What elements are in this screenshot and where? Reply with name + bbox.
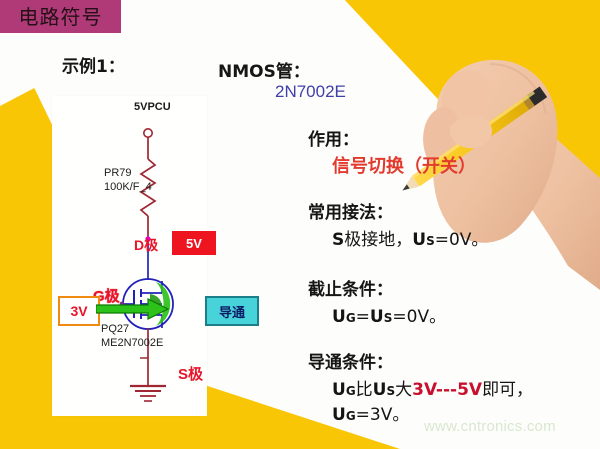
- cutoff-u2: U: [370, 307, 384, 327]
- on-sub2: S: [386, 384, 395, 398]
- wiring-heading: 常用接法：: [308, 198, 393, 223]
- slide-canvas: 电路符号 示例1： NMOS管： 2N7002E: [0, 0, 600, 449]
- wiring-value: S极接地，US=0V。: [332, 225, 488, 250]
- role-value: 信号切换（开关）: [332, 152, 476, 178]
- nmos-part-number: 2N7002E: [275, 82, 346, 102]
- gate-voltage-callout: 3V: [58, 296, 100, 326]
- mosfet-ref: PQ27: [101, 322, 163, 336]
- resistor-designator: PR79 100K/F_4: [104, 166, 152, 194]
- on-sub1: G: [346, 384, 356, 398]
- supply-node-icon: [144, 129, 152, 137]
- page-title-banner: 电路符号: [0, 0, 121, 33]
- gate-drive-arrow-icon: [96, 298, 170, 322]
- watermark: www.cntronics.com: [424, 418, 556, 435]
- nmos-title: NMOS管：: [218, 57, 310, 82]
- on-dash: ---: [436, 380, 457, 400]
- resistor-ref: PR79: [104, 166, 152, 180]
- on-da: 大: [395, 380, 412, 400]
- cutoff-heading: 截止条件：: [308, 275, 393, 300]
- ground-symbol: [130, 386, 166, 401]
- on-voltage-high: 5V: [457, 380, 482, 400]
- supply-label: 5VPCU: [134, 101, 171, 113]
- wiring-text: 极接地，: [344, 230, 412, 250]
- wiring-s: S: [332, 230, 344, 250]
- on-eq: =3V。: [356, 405, 410, 425]
- cutoff-sub1: G: [346, 311, 356, 325]
- mosfet-designator: PQ27 ME2N7002E: [101, 322, 163, 350]
- on-value-line2: UG=3V。: [332, 400, 409, 425]
- on-tail: 即可，: [482, 380, 533, 400]
- on-u1: U: [332, 380, 346, 400]
- mosfet-part: ME2N7002E: [101, 336, 163, 350]
- source-terminal-label: S极: [178, 363, 203, 384]
- wiring-sub: S: [426, 234, 435, 248]
- cutoff-tail: =0V。: [392, 307, 446, 327]
- on-sub3: G: [346, 409, 356, 423]
- drain-voltage-callout: 5V: [172, 231, 216, 255]
- on-u3: U: [332, 405, 346, 425]
- example-label: 示例1：: [62, 52, 125, 77]
- role-heading: 作用：: [308, 125, 359, 150]
- on-voltage-low: 3V: [412, 380, 436, 400]
- drain-terminal-label: D极: [134, 235, 158, 255]
- on-value-line1: UG比US大3V---5V即可，: [332, 375, 533, 400]
- cutoff-value: UG=US=0V。: [332, 302, 446, 327]
- wiring-u: U: [412, 230, 426, 250]
- cutoff-u1: U: [332, 307, 346, 327]
- resistor-value: 100K/F_4: [104, 180, 152, 194]
- wiring-tail: =0V。: [435, 230, 489, 250]
- conduction-state-callout: 导通: [205, 296, 259, 326]
- cutoff-eq: =: [356, 307, 370, 327]
- page-title: 电路符号: [19, 7, 103, 27]
- on-bi: 比: [356, 380, 373, 400]
- on-u2: U: [373, 380, 387, 400]
- on-heading: 导通条件：: [308, 348, 393, 373]
